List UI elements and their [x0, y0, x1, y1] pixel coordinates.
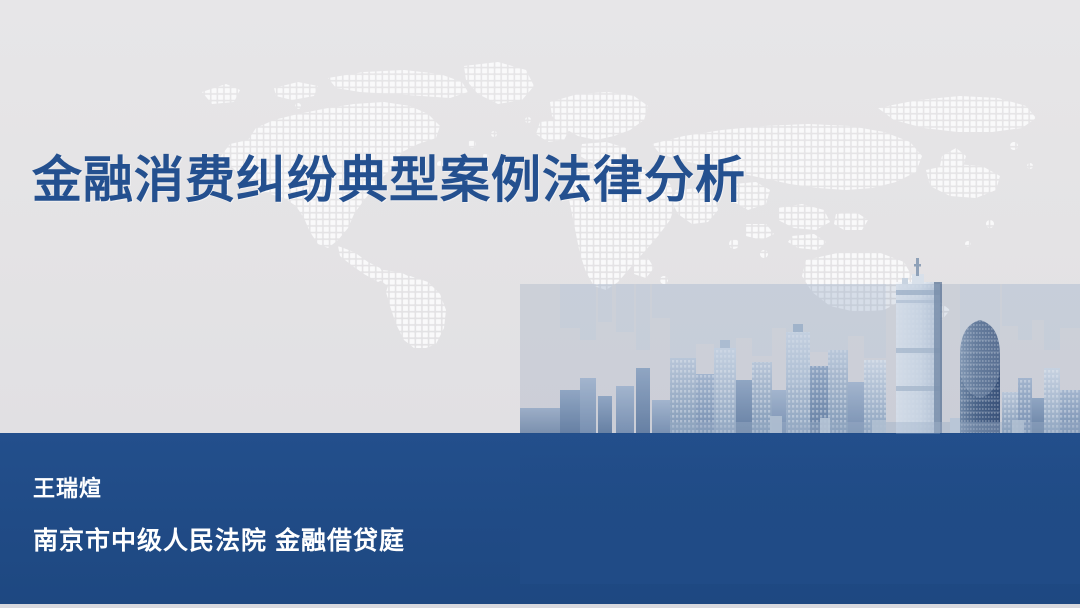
bottom-edge-strip — [0, 604, 1080, 608]
presenter-name: 王瑞煊 — [33, 474, 102, 504]
presentation-slide: 金融消费纠纷典型案例法律分析 王瑞煊 南京市中级人民法院 金融借贷庭 — [0, 0, 1080, 608]
skyline-reflection — [520, 284, 1080, 434]
slide-title: 金融消费纠纷典型案例法律分析 — [32, 149, 746, 211]
reflection-fade-mask — [520, 434, 1080, 584]
presenter-organization: 南京市中级人民法院 金融借贷庭 — [33, 524, 405, 558]
skyline-reflection-svg — [520, 284, 1080, 434]
